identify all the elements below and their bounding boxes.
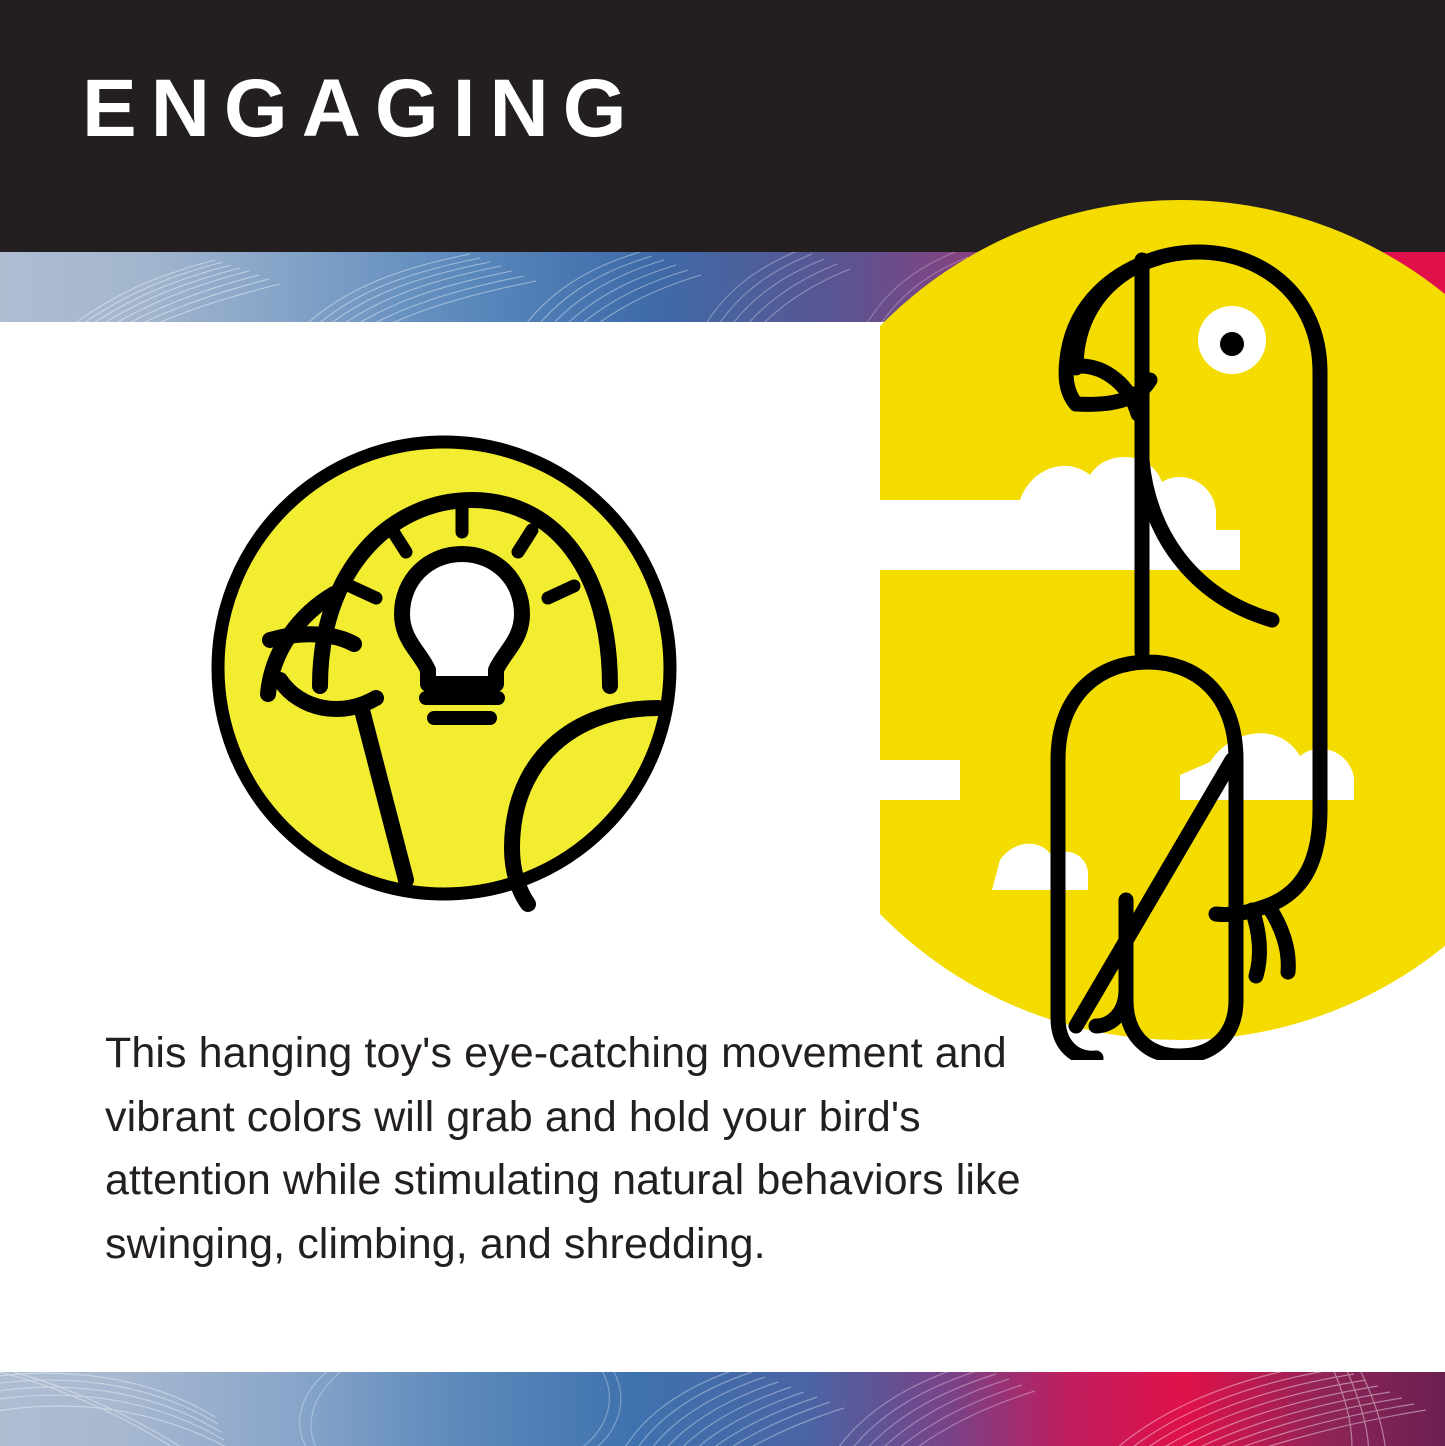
- feather-gradient-band-bottom: [0, 1372, 1445, 1446]
- feature-description: This hanging toy's eye-catching movement…: [105, 1022, 1065, 1277]
- engaging-parrot-lightbulb-badge: [196, 418, 696, 918]
- feather-band-bottom-graphic: [0, 1372, 1445, 1446]
- product-feature-card: ENGAGING: [0, 0, 1445, 1446]
- parrot-on-perch-illustration: [880, 200, 1445, 1060]
- lightbulb: [402, 554, 522, 684]
- parrot-eye: [1198, 306, 1266, 374]
- parrot-illustration-graphic: [880, 200, 1445, 1060]
- page-title: ENGAGING: [82, 68, 640, 150]
- yellow-circle-blob: [880, 200, 1445, 1040]
- badge-graphic: [196, 418, 696, 918]
